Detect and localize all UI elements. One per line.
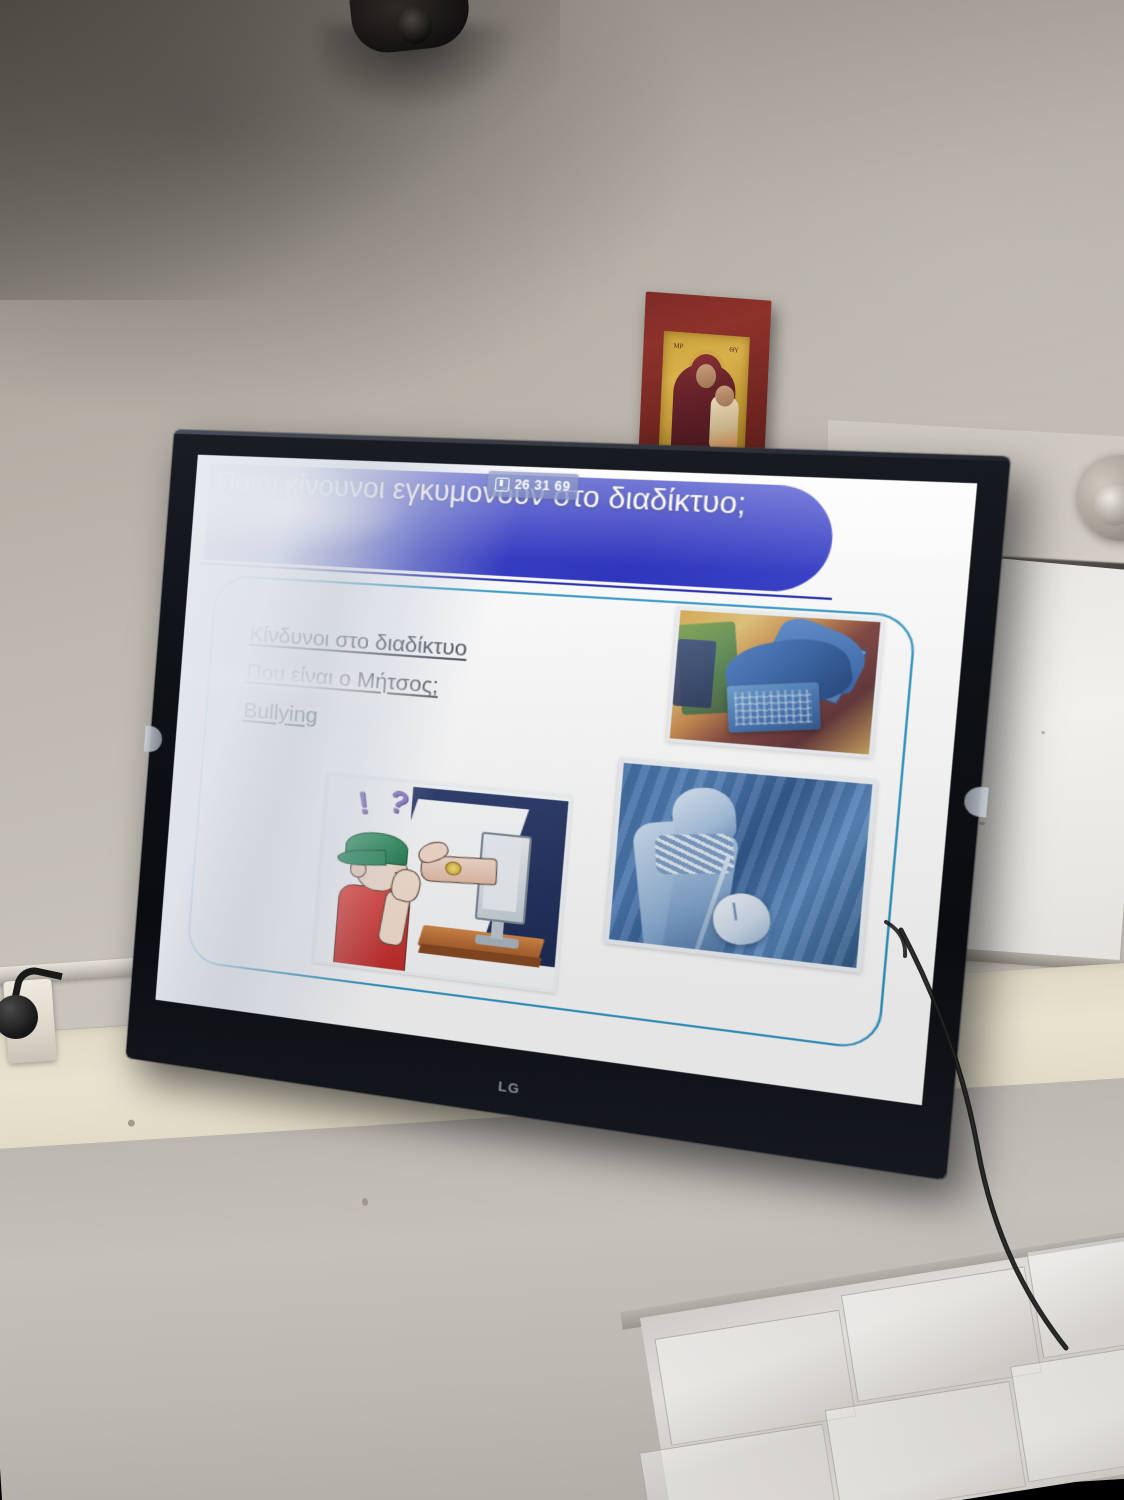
tv-bezel-highlight: [174, 430, 1010, 462]
bezel-knob-left[interactable]: [144, 726, 163, 753]
tv-bezel: LG Ποιοι κίνουνοι εγκυμονούν στο διαδίκτ…: [126, 430, 1011, 1180]
osd-badge: 26 31 69: [486, 471, 579, 500]
bound-hands-with-mouse-photo: [604, 758, 877, 973]
lg-television[interactable]: LG Ποιοι κίνουνοι εγκυμονούν στο διαδίκτ…: [150, 430, 898, 1060]
lg-logo: LG: [497, 1078, 520, 1097]
question-mark-icon: ?: [384, 784, 412, 823]
bezel-knob-right[interactable]: [963, 786, 989, 818]
hands-on-keyboard-illustration: [666, 607, 885, 759]
osd-value: 26 31 69: [514, 478, 571, 495]
cartoon-boy-and-hand-from-monitor: ! ?: [312, 772, 572, 993]
exclamation-mark-icon: !: [356, 786, 371, 822]
tv-screen[interactable]: Ποιοι κίνουνοι εγκυμονούν στο διαδίκτυο;…: [155, 455, 977, 1106]
camera-lens-icon: [398, 6, 432, 44]
presentation-slide: Ποιοι κίνουνοι εγκυμονούν στο διαδίκτυο;…: [155, 455, 977, 1106]
tv-input-icon: [494, 477, 509, 491]
classroom-photo-scene: ΜΡ ΘΥ LG Ποιοι κίνουνοι εγκυμονούν στο δ…: [0, 0, 1124, 1500]
